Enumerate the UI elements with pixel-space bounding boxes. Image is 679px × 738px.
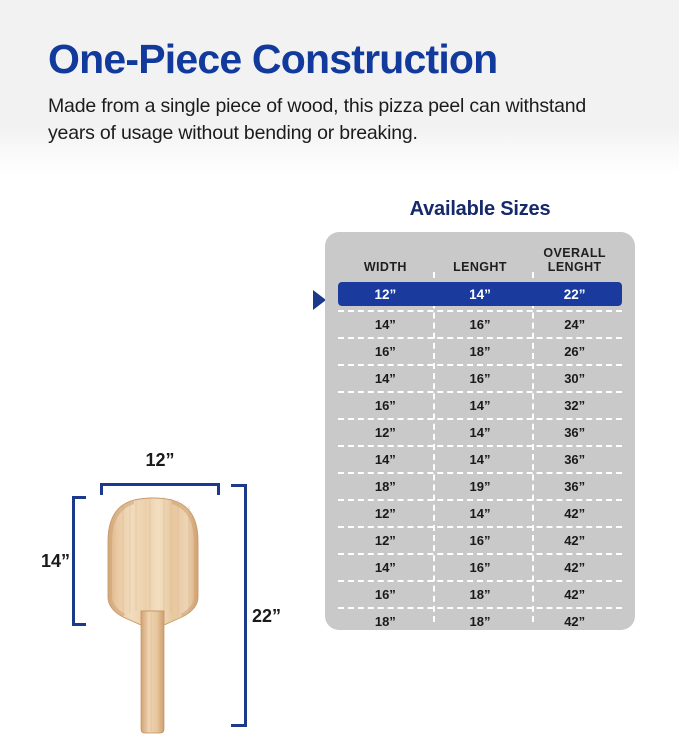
cell-width: 16” [338,587,433,602]
cell-width: 14” [338,317,433,332]
cell-overall: 26” [527,344,622,359]
column-header-overall-length: OVERALL LENGHT [527,246,622,274]
cell-width: 14” [338,371,433,386]
table-row[interactable]: 14”16”42” [338,553,622,580]
table-row[interactable]: 16”14”32” [338,391,622,418]
table-row[interactable]: 14”16”24” [338,310,622,337]
cell-overall: 42” [527,614,622,629]
cell-length: 16” [433,317,528,332]
cell-length: 19” [433,479,528,494]
page-title: One-Piece Construction [48,38,633,81]
cell-overall: 42” [527,506,622,521]
dimension-bracket-overall [231,484,247,727]
table-header-row: WIDTH LENGHT OVERALL LENGHT [338,232,622,278]
dimension-label-width: 12” [100,450,220,471]
product-diagram: 12” 14” 22” [0,178,320,640]
cell-length: 14” [433,452,528,467]
table-row[interactable]: 14”16”30” [338,364,622,391]
table-row[interactable]: 12”14”36” [338,418,622,445]
cell-overall: 42” [527,587,622,602]
cell-overall: 42” [527,560,622,575]
cell-overall: 22” [527,287,622,302]
column-header-width: WIDTH [338,260,433,274]
cell-length: 18” [433,344,528,359]
cell-length: 16” [433,560,528,575]
cell-length: 18” [433,614,528,629]
cell-width: 16” [338,344,433,359]
dimension-label-overall: 22” [252,606,281,627]
table-row-highlighted[interactable]: 12” 14” 22” [338,282,622,306]
header: One-Piece Construction Made from a singl… [0,0,679,147]
cell-overall: 32” [527,398,622,413]
cell-width: 12” [338,533,433,548]
cell-length: 16” [433,371,528,386]
cell-width: 18” [338,614,433,629]
sizes-table-panel: WIDTH LENGHT OVERALL LENGHT 12” 14” 22” … [325,232,635,630]
page-subtitle: Made from a single piece of wood, this p… [48,93,633,147]
sizes-table-body: 14”16”24”16”18”26”14”16”30”16”14”32”12”1… [338,310,622,634]
cell-length: 18” [433,587,528,602]
table-row[interactable]: 18”18”42” [338,607,622,634]
cell-width: 12” [338,287,433,302]
sizes-title: Available Sizes [325,198,635,221]
table-row[interactable]: 12”14”42” [338,499,622,526]
cell-length: 14” [433,506,528,521]
cell-overall: 24” [527,317,622,332]
cell-length: 14” [433,287,528,302]
table-row[interactable]: 12”16”42” [338,526,622,553]
cell-width: 12” [338,506,433,521]
cell-length: 14” [433,398,528,413]
cell-width: 14” [338,560,433,575]
cell-width: 14” [338,452,433,467]
column-header-length: LENGHT [433,260,528,274]
table-row[interactable]: 16”18”26” [338,337,622,364]
cell-width: 18” [338,479,433,494]
cell-width: 12” [338,425,433,440]
cell-overall: 36” [527,479,622,494]
table-row[interactable]: 14”14”36” [338,445,622,472]
dimension-label-height: 14” [26,551,70,572]
column-header-overall-line2: LENGHT [548,260,602,274]
cell-overall: 36” [527,425,622,440]
table-row[interactable]: 18”19”36” [338,472,622,499]
cell-overall: 42” [527,533,622,548]
pizza-peel-illustration [78,493,228,738]
cell-width: 16” [338,398,433,413]
cell-overall: 30” [527,371,622,386]
cell-overall: 36” [527,452,622,467]
column-header-overall-line1: OVERALL [543,246,606,260]
cell-length: 14” [433,425,528,440]
cell-length: 16” [433,533,528,548]
table-row[interactable]: 16”18”42” [338,580,622,607]
